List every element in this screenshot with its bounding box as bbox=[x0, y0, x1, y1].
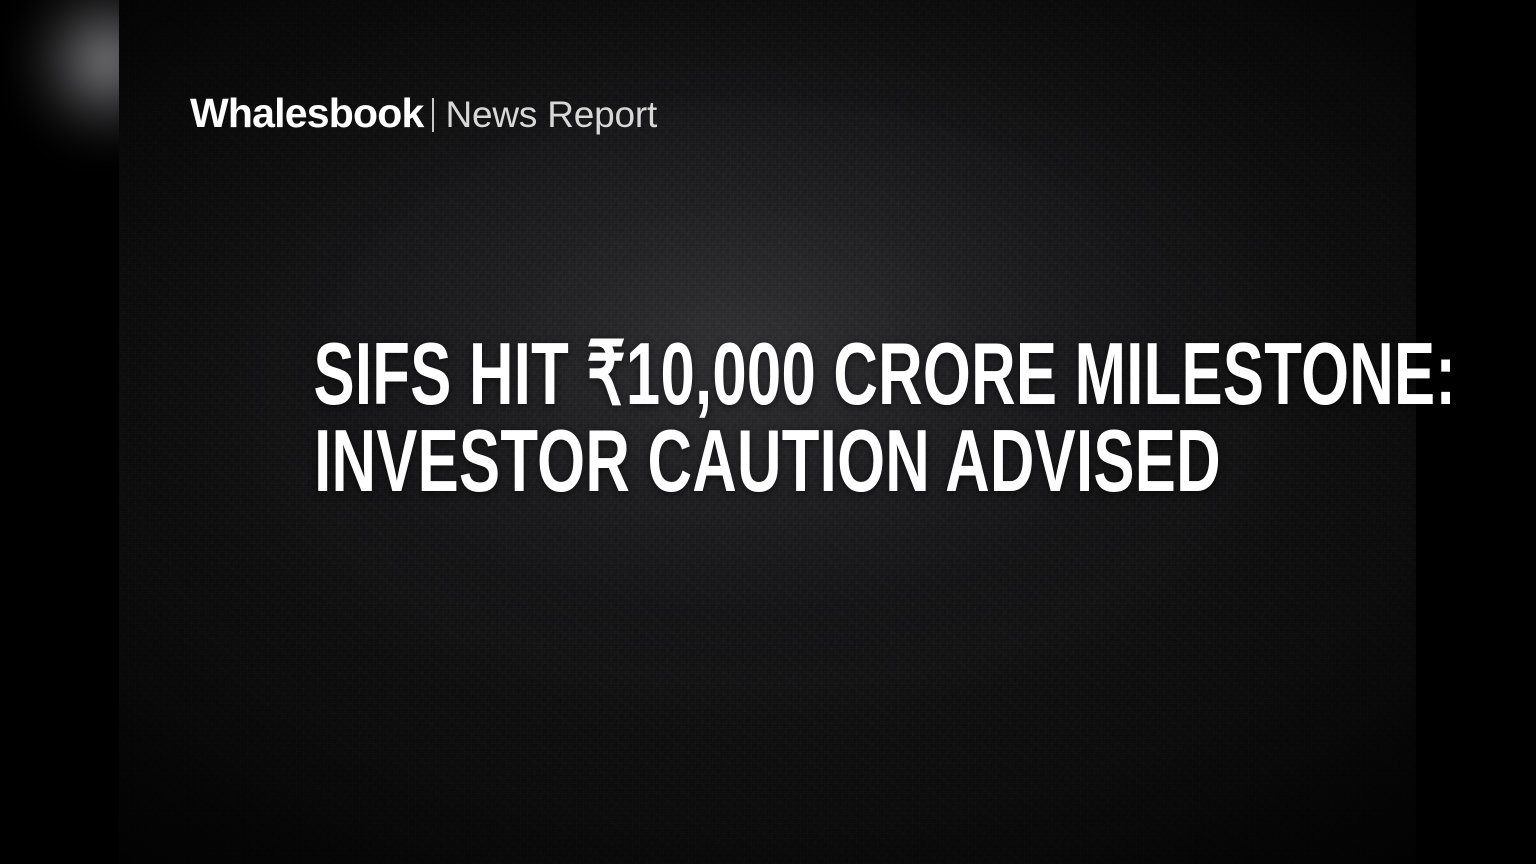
masthead-divider bbox=[432, 98, 434, 132]
news-report-card: Whalesbook News Report SIFS HIT ₹10,000 … bbox=[0, 0, 1536, 864]
section-label: News Report bbox=[445, 96, 657, 133]
corner-glow-clip bbox=[0, 0, 119, 260]
brand-logo-text: Whalesbook bbox=[190, 93, 423, 134]
corner-glow-blob bbox=[18, 0, 119, 150]
headline-line-1: SIFS HIT ₹10,000 CRORE MILESTONE: bbox=[314, 330, 1222, 417]
masthead: Whalesbook News Report bbox=[190, 93, 657, 134]
headline: SIFS HIT ₹10,000 CRORE MILESTONE: INVEST… bbox=[119, 330, 1416, 504]
headline-line-2: INVESTOR CAUTION ADVISED bbox=[314, 417, 1222, 504]
